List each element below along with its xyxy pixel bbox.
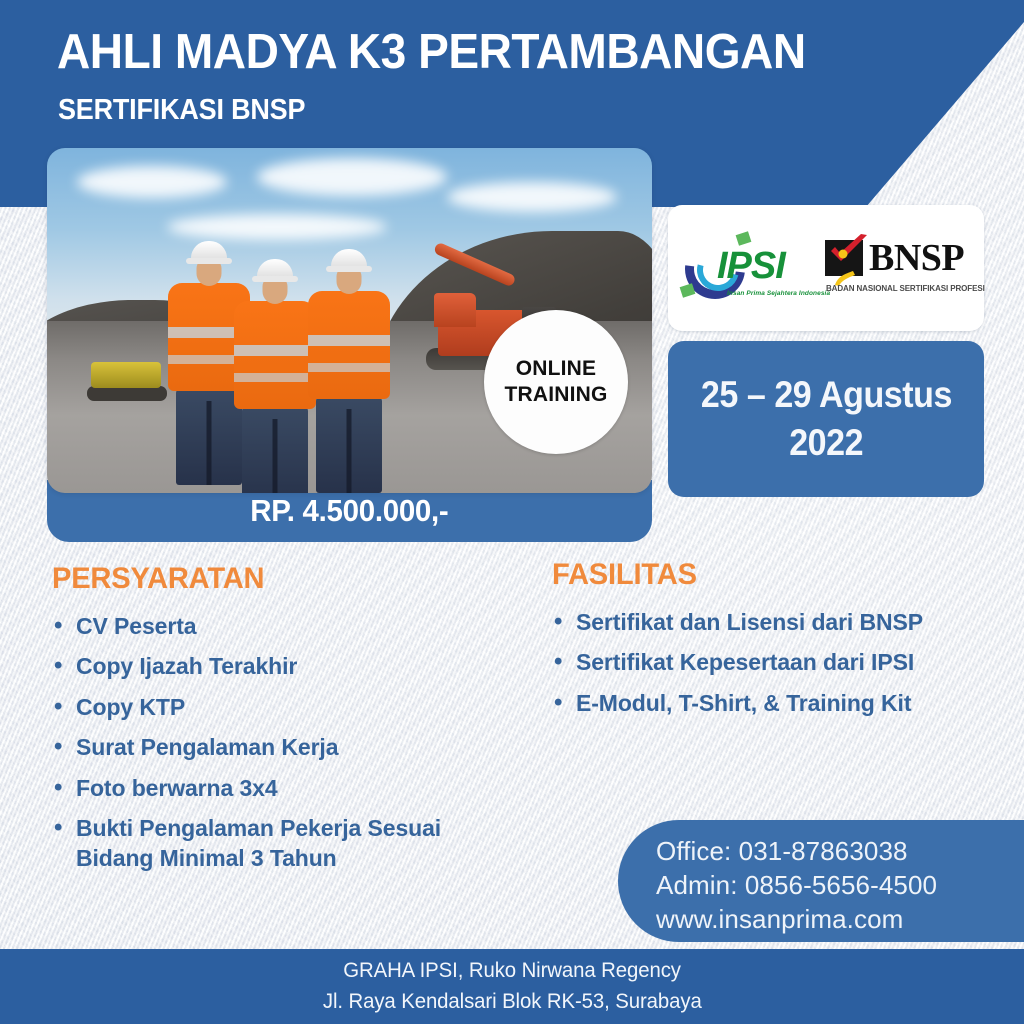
excavator-cab: [434, 293, 476, 327]
footer-address-line-1: GRAHA IPSI, Ruko Nirwana Regency: [343, 956, 681, 986]
footer-address-line-2: Jl. Raya Kendalsari Blok RK-53, Surabaya: [323, 987, 702, 1017]
contact-box[interactable]: Office: 031-87863038 Admin: 0856-5656-45…: [618, 820, 1024, 942]
hard-hat-icon: [191, 241, 227, 262]
list-item: Foto berwarna 3x4: [52, 774, 522, 803]
ipsi-wordmark: IPSI: [717, 245, 785, 288]
worker-vest: [234, 301, 316, 409]
hard-hat-icon: [257, 259, 293, 280]
list-item: Copy Ijazah Terakhir: [52, 652, 522, 681]
poster-footer: GRAHA IPSI, Ruko Nirwana Regency Jl. Ray…: [0, 949, 1024, 1024]
cloud-icon: [447, 182, 617, 212]
requirements-section: PERSYARATAN CV Peserta Copy Ijazah Terak…: [52, 562, 522, 884]
bnsp-wordmark: BNSP: [869, 236, 964, 280]
list-item: CV Peserta: [52, 612, 522, 641]
cloud-icon: [77, 166, 227, 198]
page-title: AHLI MADYA K3 PERTAMBANGAN: [57, 28, 806, 77]
online-training-badge: ONLINE TRAINING: [484, 310, 628, 454]
bnsp-checkmark-icon: [829, 234, 869, 264]
list-item: Bukti Pengalaman Pekerja Sesuai Bidang M…: [52, 814, 522, 873]
worker-vest: [308, 291, 390, 399]
worker-figure: [299, 249, 399, 491]
facilities-section: FASILITAS Sertifikat dan Lisensi dari BN…: [552, 558, 1017, 729]
badge-line-1: ONLINE: [516, 356, 597, 382]
requirements-list: CV Peserta Copy Ijazah Terakhir Copy KTP…: [52, 612, 522, 873]
bnsp-logo: BNSP BADAN NASIONAL SERTIFIKASI PROFESI: [825, 232, 977, 304]
poster-canvas: AHLI MADYA K3 PERTAMBANGAN SERTIFIKASI B…: [0, 0, 1024, 1024]
logo-card: IPSI Insan Prima Sejahtera Indonesia BNS…: [668, 205, 984, 331]
hard-hat-icon: [331, 249, 367, 270]
price-amount: RP. 4.500.000,-: [250, 493, 448, 529]
ipsi-logo: IPSI Insan Prima Sejahtera Indonesia: [675, 229, 811, 307]
page-subtitle: SERTIFIKASI BNSP: [58, 96, 305, 125]
facilities-title: FASILITAS: [552, 558, 1003, 592]
requirements-title: PERSYARATAN: [52, 562, 508, 596]
facilities-list: Sertifikat dan Lisensi dari BNSP Sertifi…: [552, 608, 1017, 718]
bnsp-tagline: BADAN NASIONAL SERTIFIKASI PROFESI: [826, 284, 985, 293]
list-item: Sertifikat dan Lisensi dari BNSP: [552, 608, 1017, 637]
contact-office[interactable]: Office: 031-87863038: [656, 834, 1024, 868]
ipsi-square-icon: [736, 231, 752, 245]
ipsi-tagline: Insan Prima Sejahtera Indonesia: [727, 290, 830, 297]
list-item: E-Modul, T-Shirt, & Training Kit: [552, 689, 1017, 718]
dozer-body: [91, 362, 161, 388]
worker-legs: [242, 407, 308, 493]
dozer-track: [87, 386, 167, 401]
contact-website[interactable]: www.insanprima.com: [656, 902, 1024, 936]
list-item: Surat Pengalaman Kerja: [52, 733, 522, 762]
event-date-year: 2022: [789, 422, 863, 464]
badge-line-2: TRAINING: [504, 382, 607, 408]
worker-legs: [316, 397, 382, 493]
event-date-range: 25 – 29 Agustus: [700, 374, 951, 416]
list-item: Copy KTP: [52, 693, 522, 722]
contact-admin[interactable]: Admin: 0856-5656-4500: [656, 868, 1024, 902]
cloud-icon: [257, 158, 447, 196]
cloud-icon: [167, 214, 387, 240]
list-item: Sertifikat Kepesertaan dari IPSI: [552, 648, 1017, 677]
event-date-box: 25 – 29 Agustus 2022: [668, 341, 984, 497]
worker-legs: [176, 389, 242, 485]
